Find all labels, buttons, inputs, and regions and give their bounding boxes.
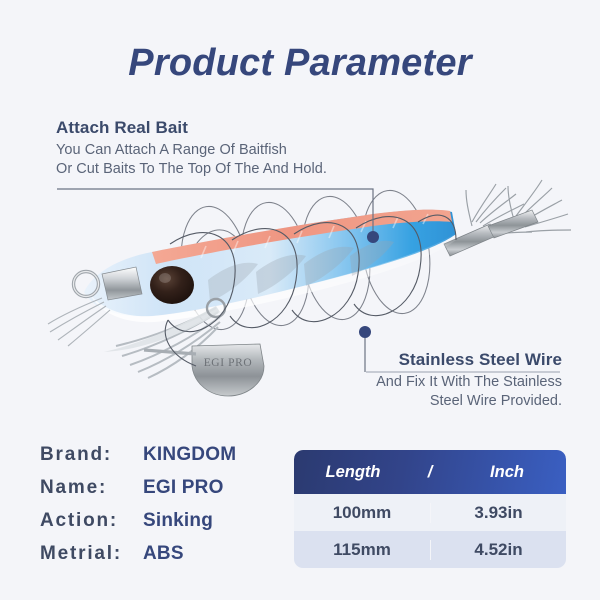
spec-label-action: Action: xyxy=(40,510,143,532)
callout-bottom-heading: Stainless Steel Wire xyxy=(300,350,562,370)
callout-bottom-line2: Steel Wire Provided. xyxy=(300,392,562,411)
page-title: Product Parameter xyxy=(0,42,600,85)
spec-label-name: Name: xyxy=(40,477,143,499)
spec-list: Brand: KINGDOM Name: EGI PRO Action: Sin… xyxy=(40,444,236,576)
spec-row-name: Name: EGI PRO xyxy=(40,477,236,510)
callout-attach-real-bait: Attach Real Bait You Can Attach A Range … xyxy=(56,118,386,179)
spec-row-metrial: Metrial: ABS xyxy=(40,543,236,576)
table-row: 115mm 4.52in xyxy=(294,531,566,568)
callout-top-line1: You Can Attach A Range Of Baitfish xyxy=(56,141,386,160)
size-cell-inch-2: 4.52in xyxy=(430,540,566,560)
spec-row-action: Action: Sinking xyxy=(40,510,236,543)
callout-stainless-steel-wire: Stainless Steel Wire And Fix It With The… xyxy=(300,350,562,411)
size-table-header-inch: Inch xyxy=(448,463,566,482)
size-table: Length / Inch 100mm 3.93in 115mm 4.52in xyxy=(294,450,566,568)
size-cell-inch-1: 3.93in xyxy=(430,503,566,523)
size-cell-mm-1: 100mm xyxy=(294,503,430,523)
spec-label-brand: Brand: xyxy=(40,444,143,466)
spec-value-action: Sinking xyxy=(143,510,213,532)
size-table-header-length: Length xyxy=(294,463,412,482)
spec-label-metrial: Metrial: xyxy=(40,543,143,565)
product-parameter-page: Product Parameter xyxy=(0,0,600,600)
size-cell-mm-2: 115mm xyxy=(294,540,430,560)
callout-bottom-line1: And Fix It With The Stainless xyxy=(300,373,562,392)
sinker-brand-text: EGI PRO xyxy=(204,357,253,369)
spec-value-brand: KINGDOM xyxy=(143,444,236,466)
spec-row-brand: Brand: KINGDOM xyxy=(40,444,236,477)
callout-top-heading: Attach Real Bait xyxy=(56,118,386,138)
size-table-header-separator: / xyxy=(412,463,448,482)
table-row: 100mm 3.93in xyxy=(294,494,566,531)
spec-value-metrial: ABS xyxy=(143,543,184,565)
callout-top-line2: Or Cut Baits To The Top Of The And Hold. xyxy=(56,160,386,179)
size-table-header-row: Length / Inch xyxy=(294,450,566,494)
spec-value-name: EGI PRO xyxy=(143,477,224,499)
